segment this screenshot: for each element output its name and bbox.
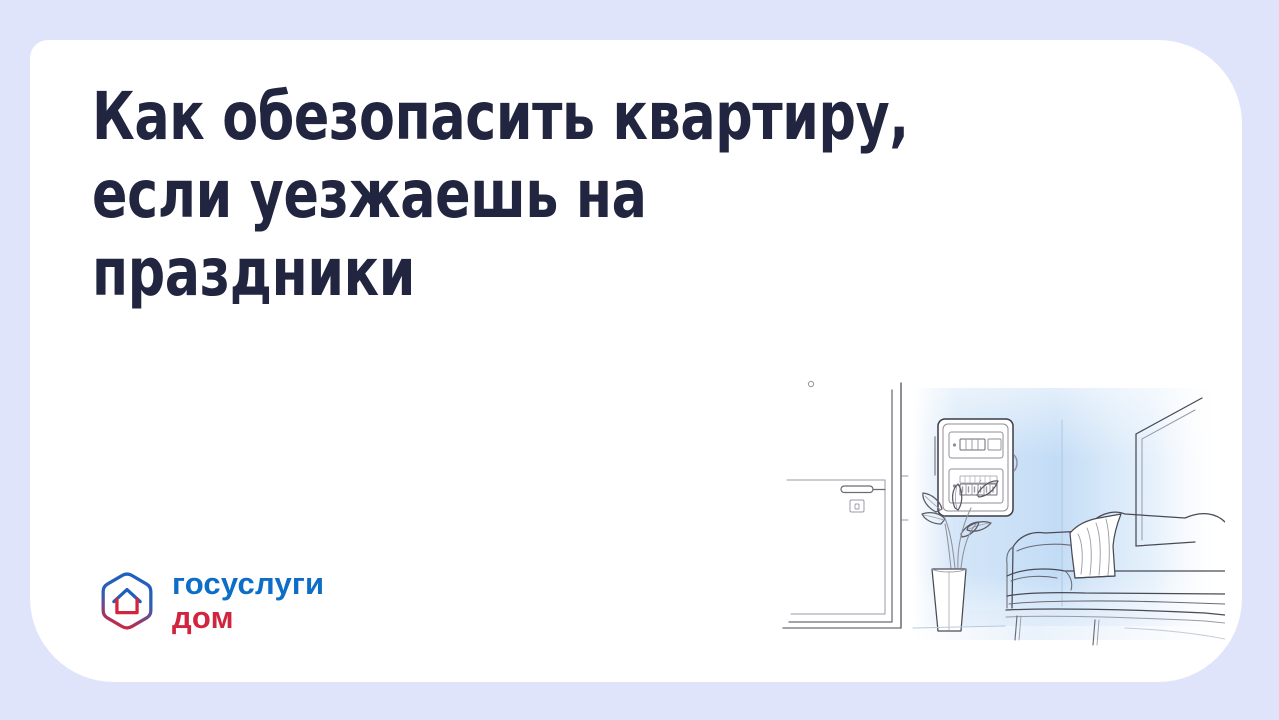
electrical-panel	[935, 419, 1017, 516]
illustration-svg	[765, 328, 1225, 668]
door-peephole	[808, 381, 813, 386]
house-in-hexagon-icon	[96, 570, 158, 632]
logo-text-gosuslugi: госуслуги	[172, 568, 324, 599]
logo-text-dom: дом	[172, 602, 324, 633]
door-handle	[841, 486, 885, 493]
content-card: Как обезопасить квартиру, если уезжаешь …	[30, 40, 1242, 682]
gosuslugi-dom-logo[interactable]: госуслуги дом	[96, 568, 324, 633]
page-title: Как обезопасить квартиру, если уезжаешь …	[92, 78, 937, 312]
front-door	[783, 383, 908, 628]
door-lock	[850, 500, 864, 512]
slide-root: Как обезопасить квартиру, если уезжаешь …	[0, 0, 1279, 720]
logo-wordmark: госуслуги дом	[172, 568, 324, 633]
apartment-interior-illustration	[765, 328, 1225, 668]
